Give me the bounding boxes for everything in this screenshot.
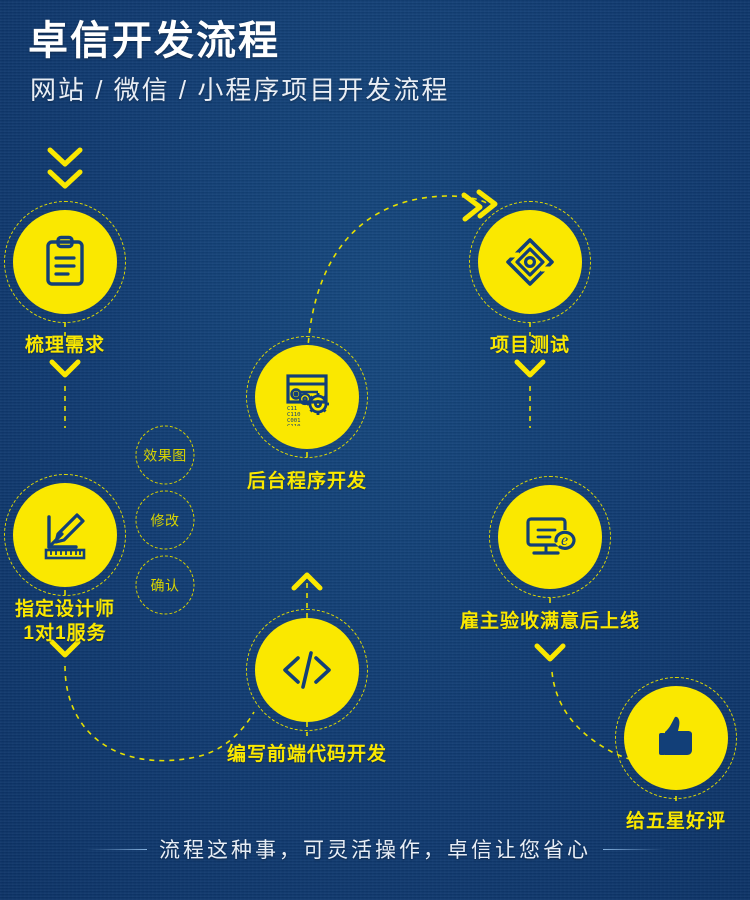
- chevron-down-icon: [52, 362, 78, 375]
- step-3-label: 后台程序开发: [247, 470, 367, 494]
- bubble-confirmation-label: 确认: [151, 575, 180, 595]
- ruler-pencil-icon: [36, 506, 94, 564]
- footer: 流程这种事，可灵活操作，卓信让您省心: [0, 834, 750, 864]
- footer-rule-left: [85, 849, 147, 850]
- step-node-2[interactable]: [13, 483, 117, 587]
- step-node-6[interactable]: e: [498, 485, 602, 589]
- footer-text: 流程这种事，可灵活操作，卓信让您省心: [159, 834, 591, 864]
- diamond-target-icon: [501, 233, 559, 291]
- clipboard-icon: [37, 234, 93, 290]
- bubble-rendering-label: 效果图: [143, 445, 187, 465]
- chevron-down-icon: [537, 646, 563, 659]
- svg-text:e: e: [561, 532, 568, 549]
- svg-text:C11: C11: [287, 406, 297, 412]
- step-2-label: 指定设计师 1对1服务: [15, 598, 115, 647]
- step-1-label: 梳理需求: [25, 334, 105, 358]
- step-4-disc[interactable]: [255, 618, 359, 722]
- step-6-disc[interactable]: e: [498, 485, 602, 589]
- step-node-4[interactable]: [255, 618, 359, 722]
- step-3-disc[interactable]: C11 C110 C001 C110: [255, 345, 359, 449]
- step-1-disc[interactable]: [13, 210, 117, 314]
- monitor-browser-icon: e: [520, 508, 580, 566]
- bubble-revision-label: 修改: [151, 510, 180, 530]
- code-gears-icon: C11 C110 C001 C110: [278, 368, 336, 426]
- step-2-label-line1: 指定设计师: [15, 598, 115, 622]
- svg-text:C110: C110: [287, 412, 300, 418]
- svg-text:C110: C110: [287, 424, 300, 426]
- chevron-down-icon: [50, 150, 80, 186]
- connector-step2-step4: [65, 666, 254, 761]
- bubble-confirmation[interactable]: 确认: [136, 556, 195, 615]
- chevron-down-icon: [517, 362, 543, 375]
- code-brackets-icon: [277, 640, 337, 700]
- bubble-revision[interactable]: 修改: [136, 491, 195, 550]
- step-node-7[interactable]: [624, 686, 728, 790]
- step-7-label: 给五星好评: [626, 810, 726, 834]
- infographic-canvas: 卓信开发流程 网站 / 微信 / 小程序项目开发流程 .dash{fill:no…: [0, 0, 750, 900]
- bubble-rendering[interactable]: 效果图: [136, 426, 195, 485]
- step-7-disc[interactable]: [624, 686, 728, 790]
- svg-text:C001: C001: [287, 418, 300, 424]
- step-node-5[interactable]: [478, 210, 582, 314]
- step-5-disc[interactable]: [478, 210, 582, 314]
- footer-rule-right: [603, 849, 665, 850]
- step-4-label: 编写前端代码开发: [227, 743, 387, 767]
- step-node-1[interactable]: [13, 210, 117, 314]
- step-5-label: 项目测试: [490, 334, 570, 358]
- step-2-disc[interactable]: [13, 483, 117, 587]
- step-6-label: 雇主验收满意后上线: [460, 610, 640, 634]
- step-node-3[interactable]: C11 C110 C001 C110: [255, 345, 359, 449]
- step-2-label-line2: 1对1服务: [15, 622, 115, 646]
- thumbs-up-icon: [649, 711, 703, 765]
